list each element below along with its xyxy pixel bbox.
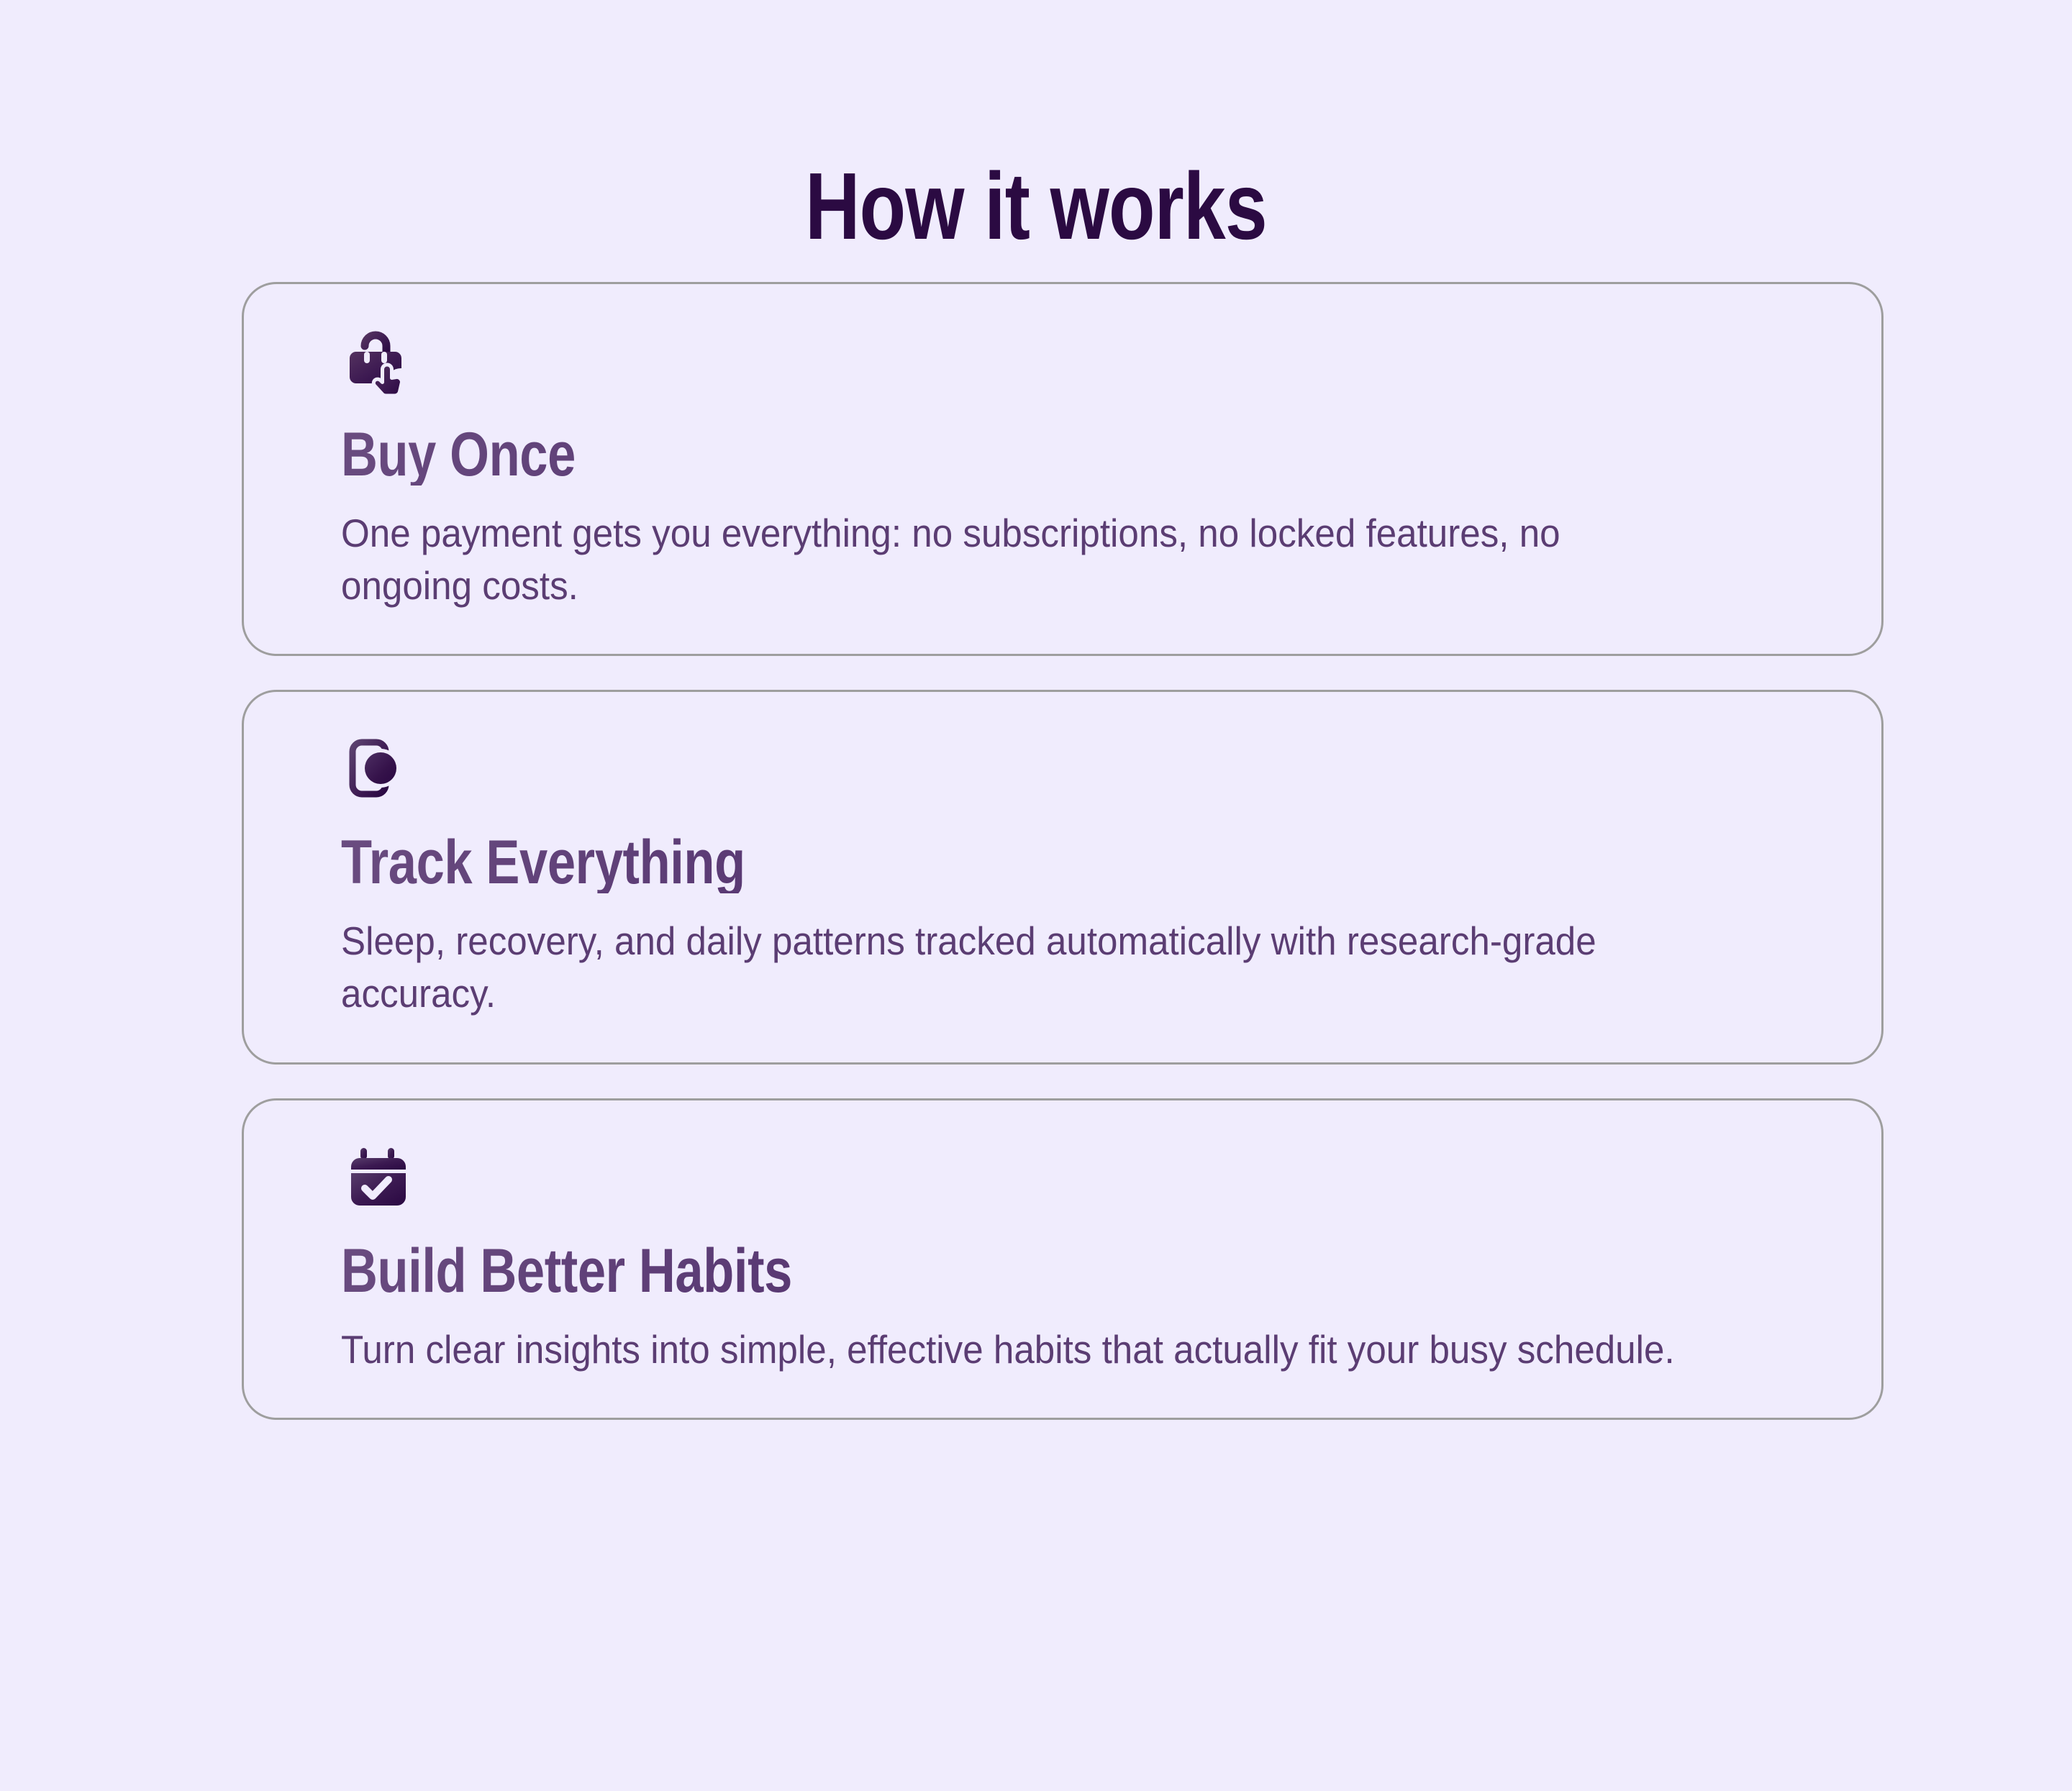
shopping-bag-tap-icon [341,324,416,399]
page-title: How it works [207,157,1865,257]
feature-card-build-better-habits[interactable]: Build Better Habits Turn clear insights … [242,1098,1884,1420]
feature-card-description: Turn clear insights into simple, effecti… [341,1323,1679,1376]
feature-card-description: One payment gets you everything: no subs… [341,507,1679,612]
feature-card-title: Build Better Habits [341,1240,1563,1302]
how-it-works-section: How it works [0,0,2072,1791]
feature-card-title: Buy Once [341,424,1563,486]
calendar-check-icon [341,1141,416,1216]
feature-card-list: Buy Once One payment gets you everything… [242,282,1884,1420]
feature-card-buy-once[interactable]: Buy Once One payment gets you everything… [242,282,1884,656]
feature-card-title: Track Everything [341,831,1563,893]
feature-card-track-everything[interactable]: Track Everything Sleep, recovery, and da… [242,690,1884,1064]
feature-card-description: Sleep, recovery, and daily patterns trac… [341,915,1679,1020]
device-activity-dot-icon [341,732,416,807]
